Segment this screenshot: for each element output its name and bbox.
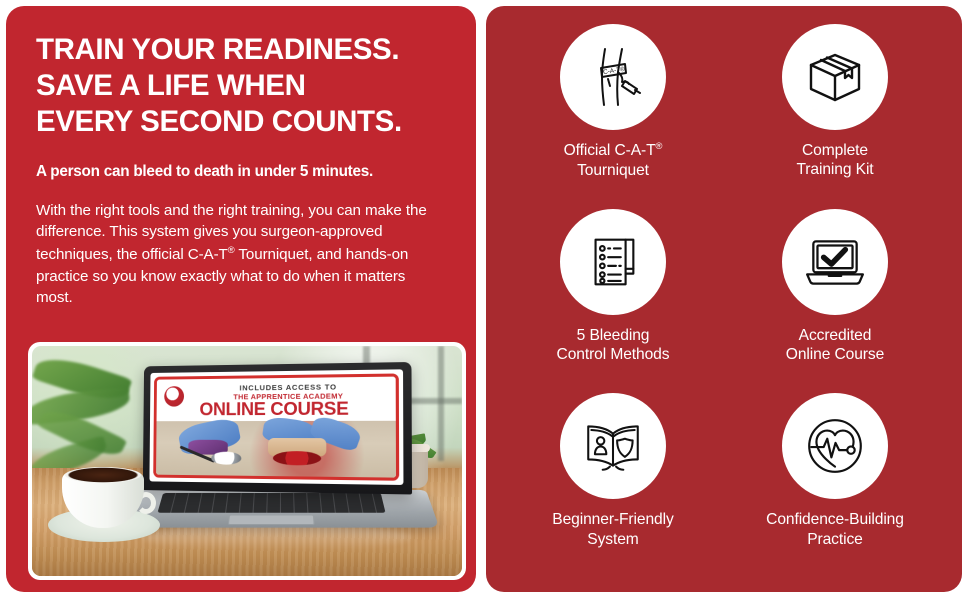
laptop-lid: INCLUDES ACCESS TO THE APPRENTICE ACADEM… — [143, 362, 412, 494]
wound-simulation — [272, 451, 321, 466]
headline-line-3: EVERY SECOND COUNTS. — [36, 104, 448, 140]
feature-label: Confidence-Building Practice — [766, 510, 904, 549]
laptop-screen: INCLUDES ACCESS TO THE APPRENTICE ACADEM… — [149, 369, 403, 485]
promo-banner: TRAIN YOUR READINESS. SAVE A LIFE WHEN E… — [0, 0, 970, 600]
feature-icon-circle — [782, 24, 888, 130]
laptop: INCLUDES ACCESS TO THE APPRENTICE ACADEM… — [136, 364, 426, 549]
headline-line-2: SAVE A LIFE WHEN — [36, 68, 448, 104]
box-icon — [803, 45, 867, 109]
tourniquet-icon: C-A-T® — [581, 45, 645, 109]
heart-pulse-icon — [802, 413, 868, 479]
pressure-gauge — [211, 451, 241, 464]
page-title: TRAIN YOUR READINESS. SAVE A LIFE WHEN E… — [36, 32, 448, 139]
registered-mark: ® — [228, 244, 235, 255]
feature-icon-circle — [782, 209, 888, 315]
feature-icon-circle — [782, 393, 888, 499]
feature-label: Beginner-Friendly System — [552, 510, 673, 549]
product-photo: INCLUDES ACCESS TO THE APPRENTICE ACADEM… — [32, 346, 462, 576]
feature-label-text: Official C-A-T — [564, 142, 656, 159]
laptop-keyboard — [157, 493, 385, 513]
feature-item-online-course: Accredited Online Course — [724, 209, 946, 394]
open-book-shield-icon — [580, 413, 646, 479]
laptop-base — [123, 490, 440, 528]
feature-item-tourniquet: C-A-T® Official C-A-T®Tourniquet — [502, 24, 724, 209]
screen-inner-photo — [156, 421, 396, 478]
feature-icon-circle — [560, 393, 666, 499]
feature-label: 5 Bleeding Control Methods — [557, 326, 670, 365]
screen-header: INCLUDES ACCESS TO THE APPRENTICE ACADEM… — [157, 377, 396, 422]
checklist-icon — [582, 231, 644, 293]
laptop-trackpad — [228, 515, 315, 525]
headline-line-1: TRAIN YOUR READINESS. — [36, 32, 448, 68]
feature-item-bleeding-methods: 5 Bleeding Control Methods — [502, 209, 724, 394]
feature-item-training-kit: Complete Training Kit — [724, 24, 946, 209]
feature-item-beginner-system: Beginner-Friendly System — [502, 393, 724, 578]
subheadline: A person can bleed to death in under 5 m… — [36, 163, 448, 181]
feature-label: Accredited Online Course — [786, 326, 884, 365]
body-paragraph: With the right tools and the right train… — [36, 200, 436, 309]
screen-line-3: ONLINE COURSE — [160, 399, 391, 419]
registered-mark: ® — [656, 141, 663, 151]
feature-item-confidence-practice: Confidence-Building Practice — [724, 393, 946, 578]
left-content-panel: TRAIN YOUR READINESS. SAVE A LIFE WHEN E… — [6, 6, 476, 592]
feature-label: Complete Training Kit — [796, 141, 873, 180]
product-photo-frame: INCLUDES ACCESS TO THE APPRENTICE ACADEM… — [28, 342, 466, 580]
screen-content: INCLUDES ACCESS TO THE APPRENTICE ACADEM… — [153, 373, 399, 480]
feature-label: Official C-A-T®Tourniquet — [564, 141, 663, 180]
feature-grid: C-A-T® Official C-A-T®Tourniquet — [502, 24, 946, 578]
laptop-check-icon — [802, 229, 868, 295]
feature-icon-circle: C-A-T® — [560, 24, 666, 130]
feature-icon-circle — [560, 209, 666, 315]
feature-label-text-2: Tourniquet — [577, 162, 649, 179]
features-panel: C-A-T® Official C-A-T®Tourniquet — [486, 6, 962, 592]
